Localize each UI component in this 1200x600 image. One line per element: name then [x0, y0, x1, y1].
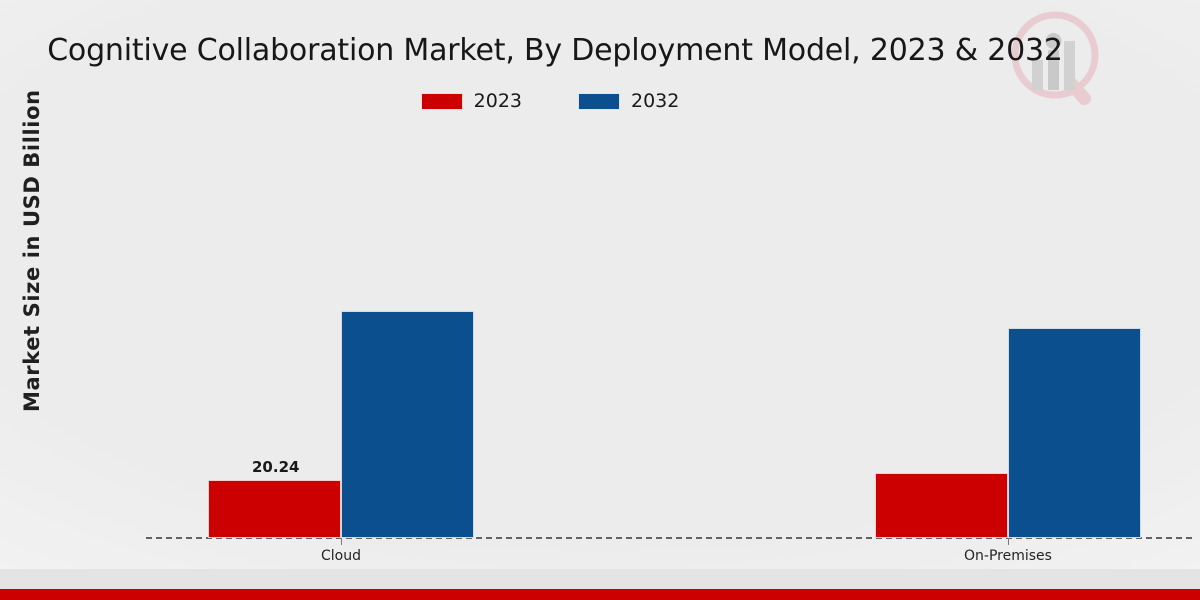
bar-cloud-2032[interactable] — [341, 311, 474, 538]
x-axis-label-on-premises: On-Premises — [964, 548, 1052, 564]
plot-area: 20.24 Cloud On-Premises — [0, 0, 1200, 600]
bar-group-on-premises — [875, 208, 1141, 538]
bar-value-label-cloud-2023: 20.24 — [252, 458, 299, 476]
bar-group-cloud: 20.24 — [208, 208, 474, 538]
bar-on-premises-2032[interactable] — [1008, 328, 1141, 538]
footer-accent-bar — [0, 589, 1200, 600]
x-axis-label-cloud: Cloud — [321, 548, 361, 564]
bar-cloud-2023[interactable] — [208, 480, 341, 538]
x-axis-tick-cloud — [341, 538, 342, 545]
footer-spacer — [0, 569, 1200, 589]
chart-figure: Cognitive Collaboration Market, By Deplo… — [0, 0, 1200, 600]
bar-on-premises-2023[interactable] — [875, 473, 1008, 538]
x-axis-tick-on-premises — [1008, 538, 1009, 545]
